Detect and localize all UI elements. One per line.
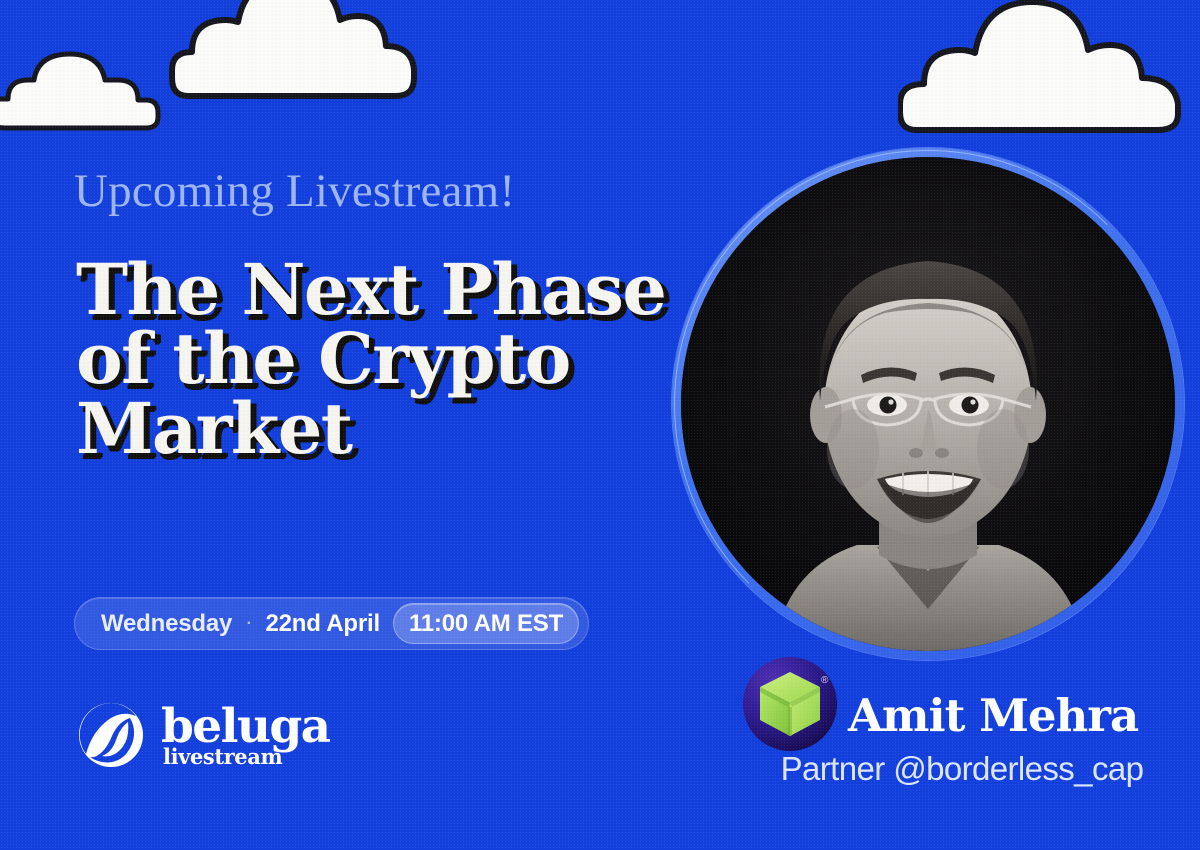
- speaker-avatar: [672, 148, 1184, 660]
- schedule-time-chip: 11:00 AM EST: [393, 603, 579, 644]
- green-cube-logo-icon: ®: [742, 656, 838, 752]
- headline-line-2: of the Crypto: [76, 324, 696, 393]
- schedule-separator: ·: [245, 611, 252, 633]
- beluga-wordmark: beluga livestream: [161, 703, 330, 767]
- beluga-logo: beluga livestream: [78, 702, 330, 768]
- headline-line-1: The Next Phase: [76, 255, 696, 324]
- poster-text-column: Upcoming Livestream! The Next Phase of t…: [74, 0, 694, 850]
- svg-text:®: ®: [821, 675, 829, 686]
- speaker-role: Partner @borderless_cap: [742, 750, 1182, 788]
- speaker-name: Amit Mehra: [848, 689, 1138, 742]
- brand-name: beluga: [161, 703, 330, 750]
- schedule-badge: Wednesday · 22nd April 11:00 AM EST: [74, 597, 589, 650]
- schedule-date: 22nd April: [265, 610, 379, 638]
- speaker-info: ® Amit Mehra Partner @borderless_cap: [742, 652, 1182, 788]
- headline-line-3: Market: [76, 394, 696, 463]
- beluga-whale-icon: [78, 702, 144, 768]
- schedule-day: Wednesday: [101, 610, 232, 638]
- page-title: The Next Phase of the Crypto Market: [76, 255, 696, 463]
- kicker-label: Upcoming Livestream!: [74, 168, 515, 215]
- avatar-photo: [681, 157, 1175, 651]
- livestream-announcement-poster: Upcoming Livestream! The Next Phase of t…: [0, 0, 1200, 850]
- cloud-right-icon: [898, 0, 1200, 146]
- speaker-name-row: ® Amit Mehra: [742, 652, 1182, 756]
